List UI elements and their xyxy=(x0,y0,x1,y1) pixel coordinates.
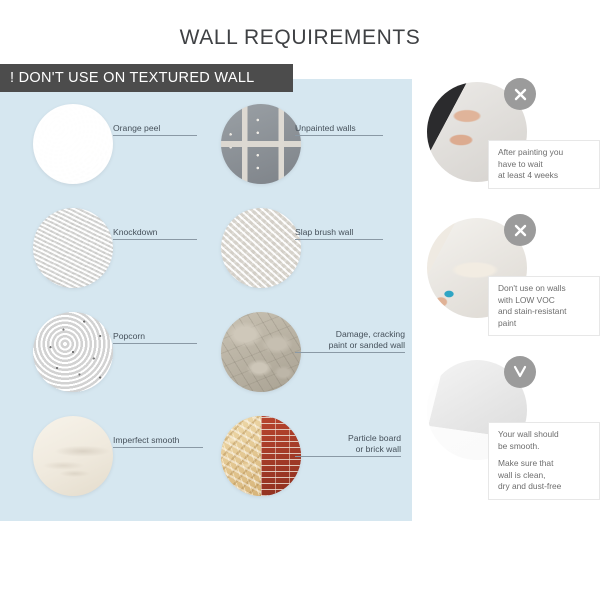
tip-paragraph: Your wall should be smooth. xyxy=(498,429,591,452)
label-underline xyxy=(295,239,383,240)
cross-icon xyxy=(504,214,536,246)
page-title: WALL REQUIREMENTS xyxy=(0,26,600,50)
sample-label: Popcorn xyxy=(113,320,197,355)
sample-label-text: Unpainted walls xyxy=(295,123,356,133)
sample-label: Knockdown xyxy=(113,216,197,251)
sample-label-text: Orange peel xyxy=(113,123,160,133)
sample-texture-swatch xyxy=(221,416,301,496)
check-icon xyxy=(504,356,536,388)
label-underline xyxy=(113,135,197,136)
sample-label: Orange peel xyxy=(113,112,197,147)
sample-label-text: Particle board or brick wall xyxy=(348,433,401,454)
tip-callout: After painting you have to wait at least… xyxy=(488,140,600,189)
sample-label: Imperfect smooth xyxy=(113,424,203,459)
sample-label-text: Knockdown xyxy=(113,227,157,237)
tip-paragraph: Make sure that wall is clean, dry and du… xyxy=(498,458,591,493)
sample-label-text: Imperfect smooth xyxy=(113,435,179,445)
sample-label-text: Damage, cracking paint or sanded wall xyxy=(329,329,405,350)
sample-texture-swatch xyxy=(33,208,113,288)
sample-label-text: Slap brush wall xyxy=(295,227,353,237)
label-underline xyxy=(295,352,405,353)
warning-banner-label: ! DON'T USE ON TEXTURED WALL xyxy=(10,70,255,86)
sample-label: Damage, cracking paint or sanded wall xyxy=(295,318,405,364)
particle-board-half xyxy=(221,416,261,496)
sample-texture-swatch xyxy=(221,312,301,392)
tip-callout: Your wall should be smooth. Make sure th… xyxy=(488,422,600,500)
tip-paragraph: After painting you have to wait at least… xyxy=(498,147,591,182)
sample-texture-swatch xyxy=(221,208,301,288)
sample-texture-swatch xyxy=(33,416,113,496)
label-underline xyxy=(295,135,383,136)
label-underline xyxy=(295,456,401,457)
sample-texture-swatch xyxy=(33,104,113,184)
sample-label: Unpainted walls xyxy=(295,112,383,147)
warning-banner: ! DON'T USE ON TEXTURED WALL xyxy=(0,64,293,92)
sample-label-text: Popcorn xyxy=(113,331,145,341)
label-underline xyxy=(113,447,203,448)
cross-icon xyxy=(504,78,536,110)
sample-texture-swatch xyxy=(221,104,301,184)
tip-paragraph: Don't use on walls with LOW VOC and stai… xyxy=(498,283,591,329)
label-underline xyxy=(113,343,197,344)
sample-texture-swatch xyxy=(33,312,113,392)
tip-callout: Don't use on walls with LOW VOC and stai… xyxy=(488,276,600,336)
infographic-page: WALL REQUIREMENTS ! DON'T USE ON TEXTURE… xyxy=(0,0,600,600)
label-underline xyxy=(113,239,197,240)
sample-label: Particle board or brick wall xyxy=(295,422,401,468)
sample-label: Slap brush wall xyxy=(295,216,383,251)
